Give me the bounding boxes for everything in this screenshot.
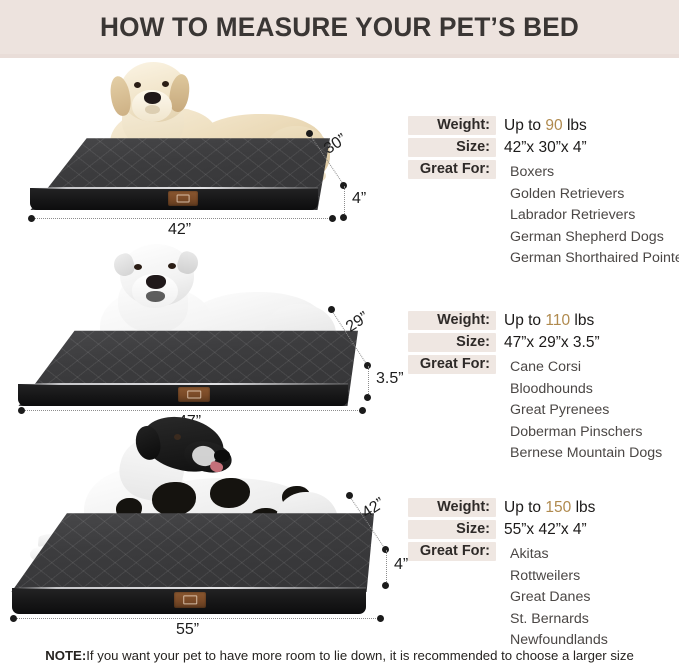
dimension-label-height: 4” — [394, 556, 408, 574]
dimension-dot — [306, 130, 313, 137]
dimension-label-height: 4” — [352, 190, 366, 208]
dimension-line-width — [32, 218, 332, 219]
list-item: German Shorthaired Pointers — [510, 248, 679, 270]
weight-label: Weight: — [408, 311, 496, 330]
size-label: Size: — [408, 333, 496, 352]
dimension-dot — [18, 407, 25, 414]
size-label: Size: — [408, 520, 496, 539]
dimension-dot — [328, 306, 335, 313]
dimension-dot — [346, 492, 353, 499]
great-for-label: Great For: — [408, 355, 496, 374]
pet-bed-jumbo — [4, 510, 374, 614]
great-for-label: Great For: — [408, 542, 496, 561]
dimension-dot — [382, 582, 389, 589]
list-item: Great Pyrenees — [510, 400, 662, 422]
spec-block-large: Weight: Up to 90 lbs Size: 42”x 30”x 4” … — [408, 116, 679, 236]
list-item: Bernese Mountain Dogs — [510, 443, 662, 465]
dimension-dot — [359, 407, 366, 414]
spec-row-size: Size: 42”x 30”x 4” — [408, 138, 679, 160]
weight-label: Weight: — [408, 498, 496, 517]
dimension-line-width — [22, 410, 362, 411]
spec-row-size: Size: 55”x 42”x 4” — [408, 520, 679, 542]
dimension-line-height — [386, 550, 387, 586]
bed-quilted-top — [4, 510, 374, 592]
product-illustration-jumbo: 42” 4” 55” — [0, 420, 400, 635]
size-value: 47”x 29”x 3.5” — [504, 333, 600, 353]
bed-piping — [20, 383, 348, 385]
list-item: Rottweilers — [510, 566, 608, 588]
note-prefix: NOTE: — [45, 648, 86, 663]
list-item: St. Bernards — [510, 609, 608, 631]
dimension-dot — [329, 215, 336, 222]
dimension-line-width — [14, 618, 380, 619]
list-item: Doberman Pinschers — [510, 422, 662, 444]
dimension-dot — [28, 215, 35, 222]
page-title: HOW TO MEASURE YOUR PET’S BED — [10, 0, 669, 54]
bed-piping — [14, 587, 366, 589]
product-illustration-large: 30” 4” 42” — [0, 60, 400, 230]
dimension-dot — [10, 615, 17, 622]
brand-logo-patch — [174, 592, 206, 608]
header-underline — [0, 54, 679, 58]
list-item: Boxers — [510, 162, 679, 184]
bed-piping — [32, 187, 318, 189]
footer-note: NOTE:If you want your pet to have more r… — [0, 648, 679, 663]
weight-value: Up to 150 lbs — [504, 498, 595, 518]
size-label: Size: — [408, 138, 496, 157]
list-item: Golden Retrievers — [510, 184, 679, 206]
great-for-label: Great For: — [408, 160, 496, 179]
list-item: Labrador Retrievers — [510, 205, 679, 227]
pet-bed-xlarge — [8, 326, 358, 406]
note-text: If you want your pet to have more room t… — [86, 648, 634, 663]
brand-logo-patch — [178, 387, 210, 402]
spec-row-weight: Weight: Up to 110 lbs — [408, 311, 679, 333]
brand-logo-patch — [168, 191, 198, 206]
list-item: Great Danes — [510, 587, 608, 609]
breed-list: Cane Corsi Bloodhounds Great Pyrenees Do… — [510, 357, 662, 465]
size-value: 42”x 30”x 4” — [504, 138, 587, 158]
spec-row-size: Size: 47”x 29”x 3.5” — [408, 333, 679, 355]
spec-block-jumbo: Weight: Up to 150 lbs Size: 55”x 42”x 4”… — [408, 498, 679, 618]
dimension-dot — [377, 615, 384, 622]
list-item: Cane Corsi — [510, 357, 662, 379]
dimension-label-height: 3.5” — [376, 370, 404, 388]
list-item: Akitas — [510, 544, 608, 566]
dimension-dot — [364, 394, 371, 401]
dimension-label-width: 55” — [176, 621, 199, 639]
dimension-label-width: 42” — [168, 221, 191, 239]
dimension-dot — [340, 214, 347, 221]
pet-bed-large — [18, 132, 330, 210]
list-item: German Shepherd Dogs — [510, 227, 679, 249]
breed-list: Boxers Golden Retrievers Labrador Retrie… — [510, 162, 679, 270]
spec-block-xlarge: Weight: Up to 110 lbs Size: 47”x 29”x 3.… — [408, 311, 679, 431]
product-illustration-xlarge: 29” 3.5” 47” — [0, 248, 400, 418]
list-item: Bloodhounds — [510, 379, 662, 401]
weight-value: Up to 110 lbs — [504, 311, 594, 331]
spec-row-weight: Weight: Up to 150 lbs — [408, 498, 679, 520]
weight-value: Up to 90 lbs — [504, 116, 587, 136]
weight-label: Weight: — [408, 116, 496, 135]
breed-list: Akitas Rottweilers Great Danes St. Berna… — [510, 544, 608, 652]
spec-row-weight: Weight: Up to 90 lbs — [408, 116, 679, 138]
header-banner: HOW TO MEASURE YOUR PET’S BED — [0, 0, 679, 58]
size-value: 55”x 42”x 4” — [504, 520, 587, 540]
